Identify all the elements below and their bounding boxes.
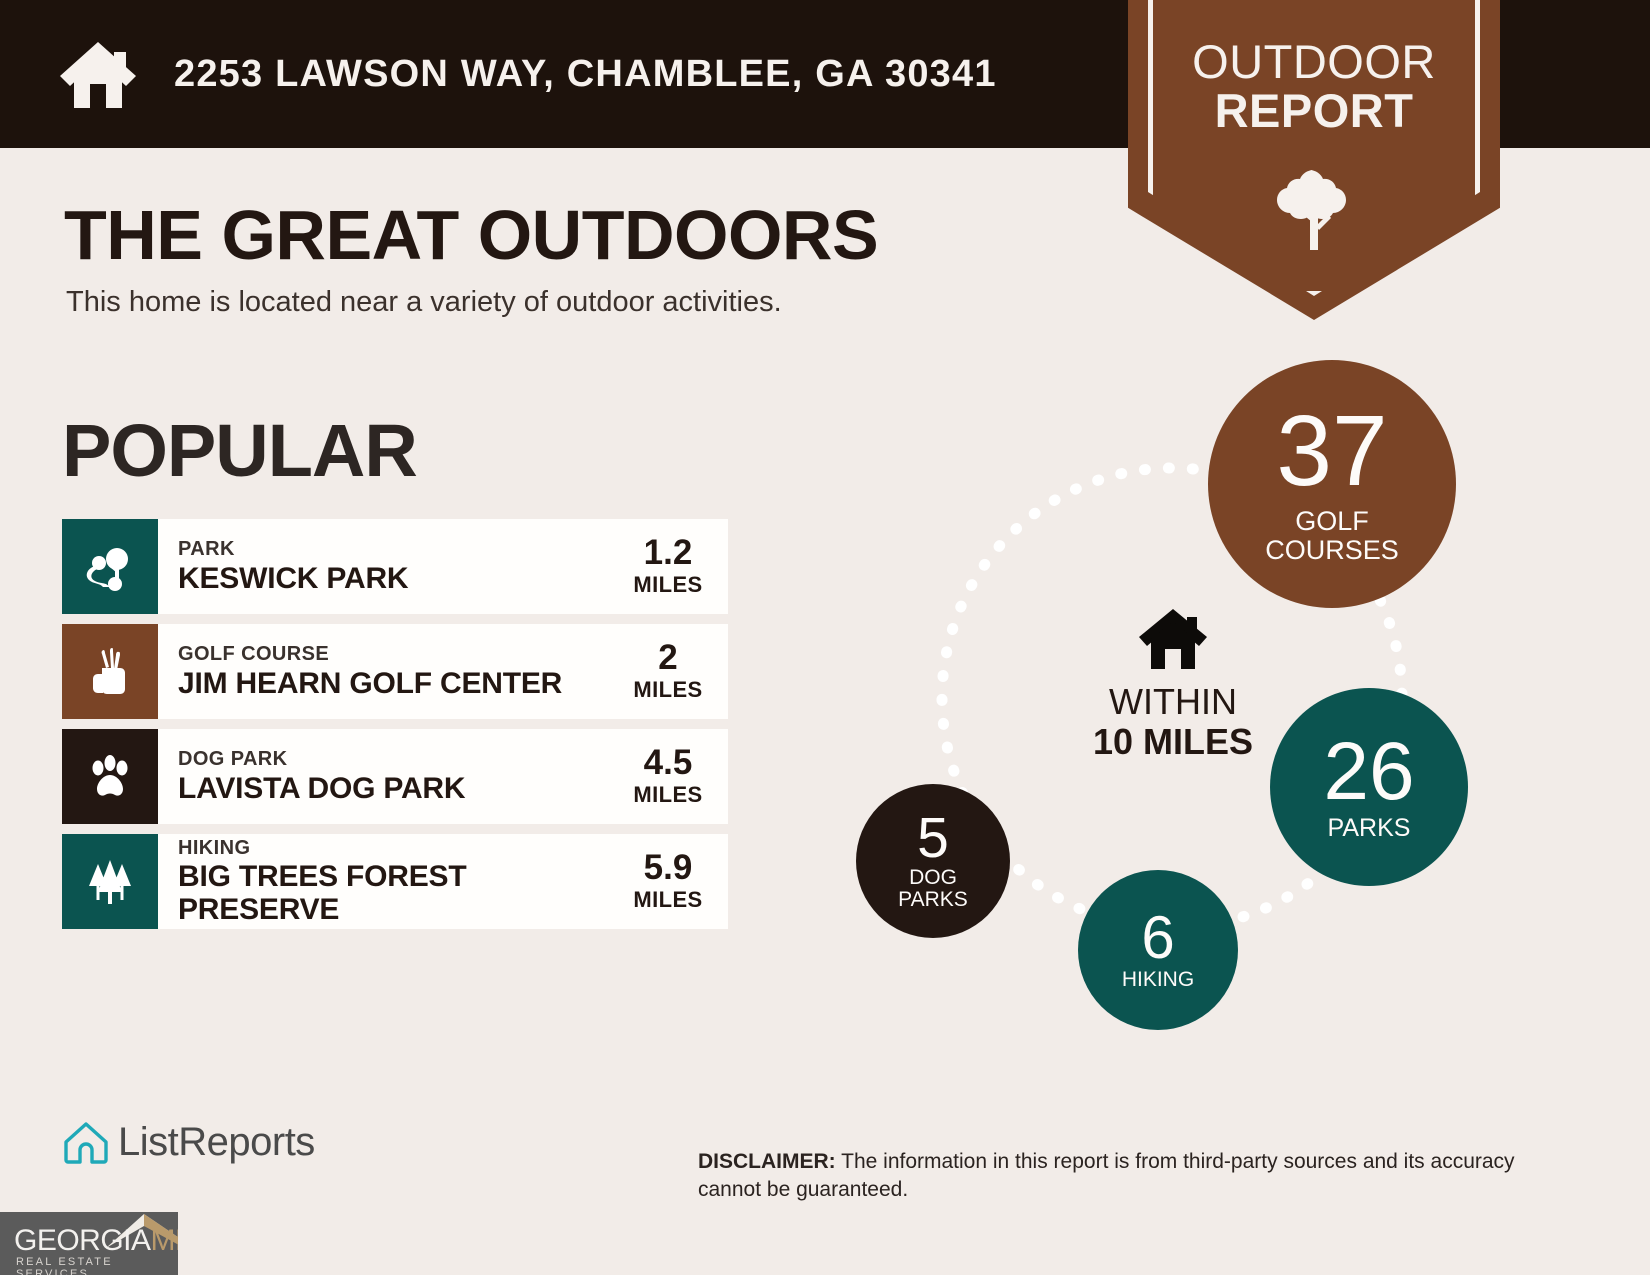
- badge-line2: REPORT: [1128, 87, 1500, 136]
- georgia-mls-badge: GEORGIAMLS REAL ESTATE SERVICES: [0, 1212, 178, 1275]
- stat-value: 6: [1141, 909, 1174, 966]
- poi-text: GOLF COURSE JIM HEARN GOLF CENTER: [158, 624, 618, 719]
- poi-icon-box: [62, 834, 158, 929]
- stat-label: DOG PARKS: [898, 867, 968, 912]
- badge-line1: OUTDOOR: [1128, 38, 1500, 87]
- poi-distance-unit: MILES: [633, 572, 702, 598]
- poi-icon-box: [62, 519, 158, 614]
- stat-label: GOLF COURSES: [1265, 507, 1399, 564]
- stat-bubble-dog-parks[interactable]: 5 DOG PARKS: [856, 784, 1010, 938]
- list-item[interactable]: DOG PARK LAVISTA DOG PARK 4.5 MILES: [62, 729, 728, 824]
- poi-distance-value: 5.9: [644, 850, 693, 885]
- poi-distance-value: 2: [658, 640, 677, 675]
- poi-distance-unit: MILES: [633, 677, 702, 703]
- house-outline-icon: [62, 1118, 110, 1166]
- poi-distance-unit: MILES: [633, 782, 702, 808]
- poi-category: GOLF COURSE: [178, 643, 618, 667]
- list-item[interactable]: HIKING BIG TREES FOREST PRESERVE 5.9 MIL…: [62, 834, 728, 929]
- disclaimer-label: DISCLAIMER:: [698, 1150, 836, 1173]
- mls-name-part1: GEORGIA: [14, 1224, 151, 1257]
- stat-bubble-golf-courses[interactable]: 37 GOLF COURSES: [1208, 360, 1456, 608]
- poi-category: HIKING: [178, 837, 618, 861]
- page-title: THE GREAT OUTDOORS: [64, 195, 878, 275]
- poi-distance: 5.9 MILES: [618, 834, 728, 929]
- poi-icon-box: [62, 624, 158, 719]
- poi-category: PARK: [178, 538, 618, 562]
- golf-bag-icon: [84, 646, 136, 698]
- stat-label-line1: GOLF: [1265, 507, 1399, 536]
- listreports-wordmark: ListReports: [118, 1120, 315, 1165]
- outdoor-stats-diagram: 37 GOLF COURSES 26 PARKS 6 HIKING 5 DOG …: [820, 360, 1540, 1040]
- stat-value: 5: [917, 811, 949, 865]
- home-icon: [58, 38, 138, 110]
- poi-distance-value: 4.5: [644, 745, 693, 780]
- page-subtitle: This home is located near a variety of o…: [66, 286, 782, 319]
- poi-icon-box: [62, 729, 158, 824]
- header-address: 2253 LAWSON WAY, CHAMBLEE, GA 30341: [174, 53, 997, 96]
- paw-print-icon: [84, 751, 136, 803]
- tree-icon: [1268, 162, 1360, 254]
- poi-name: LAVISTA DOG PARK: [178, 772, 618, 805]
- popular-heading: POPULAR: [62, 408, 417, 493]
- stat-label-line1: DOG: [898, 867, 968, 889]
- mls-name-part2: MLS: [151, 1224, 178, 1257]
- center-line1: WITHIN: [1048, 682, 1298, 722]
- outdoor-report-badge-text: OUTDOOR REPORT: [1128, 38, 1500, 136]
- listreports-logo[interactable]: ListReports: [62, 1118, 315, 1166]
- diagram-center-label: WITHIN 10 MILES: [1048, 607, 1298, 761]
- poi-text: HIKING BIG TREES FOREST PRESERVE: [158, 834, 618, 929]
- poi-text: DOG PARK LAVISTA DOG PARK: [158, 729, 618, 824]
- poi-name: JIM HEARN GOLF CENTER: [178, 667, 618, 700]
- park-trees-icon: [84, 541, 136, 593]
- stat-value: 26: [1323, 733, 1414, 811]
- stat-bubble-hiking[interactable]: 6 HIKING: [1078, 870, 1238, 1030]
- home-icon: [1137, 607, 1209, 671]
- stat-label-line2: COURSES: [1265, 536, 1399, 565]
- disclaimer: DISCLAIMER: The information in this repo…: [698, 1148, 1518, 1205]
- popular-list: PARK KESWICK PARK 1.2 MILES GOLF COURSE …: [62, 519, 728, 938]
- poi-distance: 2 MILES: [618, 624, 728, 719]
- poi-distance: 1.2 MILES: [618, 519, 728, 614]
- list-item[interactable]: PARK KESWICK PARK 1.2 MILES: [62, 519, 728, 614]
- mls-tagline: REAL ESTATE SERVICES: [16, 1256, 178, 1275]
- pine-trees-icon: [84, 856, 136, 908]
- poi-name: BIG TREES FOREST PRESERVE: [178, 860, 618, 926]
- stat-label-line2: PARKS: [898, 889, 968, 911]
- list-item[interactable]: GOLF COURSE JIM HEARN GOLF CENTER 2 MILE…: [62, 624, 728, 719]
- poi-name: KESWICK PARK: [178, 562, 618, 595]
- stat-bubble-parks[interactable]: 26 PARKS: [1270, 688, 1468, 886]
- center-line2: 10 MILES: [1048, 722, 1298, 762]
- poi-distance-unit: MILES: [633, 887, 702, 913]
- poi-text: PARK KESWICK PARK: [158, 519, 618, 614]
- stat-label: PARKS: [1328, 815, 1411, 842]
- poi-distance-value: 1.2: [644, 535, 693, 570]
- stat-value: 37: [1276, 404, 1387, 499]
- poi-distance: 4.5 MILES: [618, 729, 728, 824]
- mls-wordmark: GEORGIAMLS: [14, 1224, 178, 1258]
- poi-category: DOG PARK: [178, 748, 618, 772]
- stat-label: HIKING: [1122, 969, 1194, 991]
